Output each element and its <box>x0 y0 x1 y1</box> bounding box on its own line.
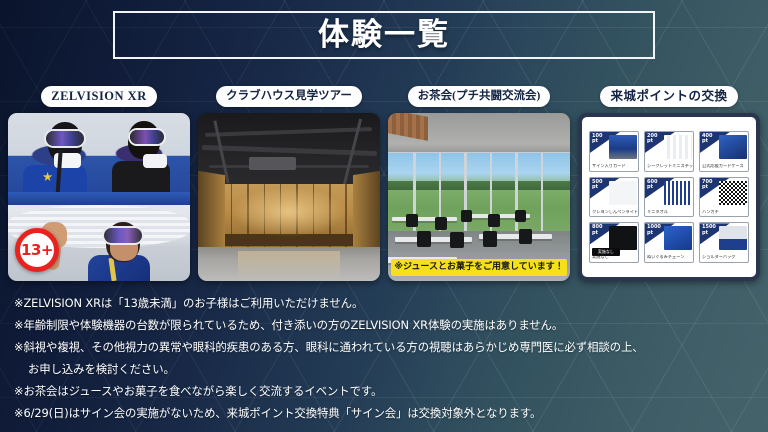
prize-item: 1500 ptショルダーバッグ <box>699 222 749 263</box>
notes-list: ※ZELVISION XRは「13歳未満」のお子様はご利用いただけません。※年齢… <box>14 292 756 424</box>
prize-points-label: 1500 pt <box>700 223 748 236</box>
age-restriction-badge: 13+ <box>15 228 59 272</box>
chair <box>417 231 431 247</box>
table <box>392 217 458 221</box>
vr-headset-experience-photo: 13+ <box>8 113 190 281</box>
side-locker-right <box>353 171 380 256</box>
title-frame: 体験一覧 <box>113 11 655 59</box>
card-label-pill-points-exchange: 来城ポイントの交換 <box>600 86 737 107</box>
blue-table <box>8 192 190 205</box>
experience-card-clubhouse-tour[interactable]: クラブハウス見学ツアー <box>198 86 380 286</box>
experience-card-points-exchange[interactable]: 来城ポイントの交換 100 ptサイン入りカード200 ptシークレットミニステ… <box>578 86 760 286</box>
prize-item: 700 ptハンカチ <box>699 177 749 218</box>
prize-unavailable-label: 実施なし <box>598 249 614 255</box>
age-restriction-label: 13+ <box>21 243 53 258</box>
card-label-pill-zelvision-xr: ZELVISION XR <box>41 86 157 107</box>
prize-name-label: ハンカチ <box>700 210 748 217</box>
vr-goggle-icon <box>46 131 84 146</box>
chair <box>406 214 418 227</box>
cafeteria-lounge-photo: ※ジュースとお菓子をご用意しています！ <box>388 113 570 281</box>
card-label-text: クラブハウス見学ツアー <box>226 91 352 103</box>
prize-name-label: ミニタオル <box>645 210 693 217</box>
warm-lighting-glow <box>231 187 347 237</box>
chair <box>515 210 526 222</box>
chair <box>450 232 464 248</box>
clubhouse-locker-room-photo <box>198 113 380 281</box>
card-label-text: お茶会(プチ共闘交流会) <box>418 91 541 103</box>
ceiling-vent <box>249 157 296 170</box>
page-title: 体験一覧 <box>318 20 450 51</box>
vr-goggle-icon <box>130 130 164 144</box>
chair <box>483 231 497 247</box>
prize-name-label: サイン入りカード <box>590 164 638 171</box>
floor-reflection <box>238 251 340 281</box>
prize-name-label: クレヨンしんペンライト <box>590 210 638 217</box>
face-mask <box>143 154 167 168</box>
note-line: ※6/29(日)はサイン会の実施がないため、来城ポイント交換特典「サイン会」は交… <box>14 402 756 424</box>
experience-card-tea-party[interactable]: お茶会(プチ共闘交流会) <box>388 86 570 286</box>
chair <box>435 217 447 230</box>
prize-name-label: 公式応援カードケース <box>700 164 748 171</box>
points-exchange-prize-sheet: 100 ptサイン入りカード200 ptシークレットミニステッカー400 pt公… <box>578 113 760 281</box>
experience-card-zelvision-xr[interactable]: ZELVISION XR <box>8 86 190 286</box>
prize-item: 1000 ptぬいぐるみチェーン <box>644 222 694 263</box>
prize-points-label: 800 pt <box>590 223 638 236</box>
prize-points-label: 200 pt <box>645 132 693 145</box>
side-locker-left <box>198 171 225 256</box>
prize-item: 500 ptクレヨンしんペンライト <box>589 177 639 218</box>
note-line: お申し込みを検討ください。 <box>14 358 756 380</box>
prize-points-label: 1000 pt <box>645 223 693 236</box>
slide-root: 体験一覧 ZELVISION XR <box>0 0 768 432</box>
tea-party-banner: ※ジュースとお菓子をご用意しています！ <box>391 259 567 276</box>
note-line: ※お茶会はジュースやお菓子を食べながら楽しく交流するイベントです。 <box>14 380 756 402</box>
prize-item: 200 ptシークレットミニステッカー <box>644 131 694 172</box>
note-line: ※斜視や複視、その他視力の異常や眼科的疾患のある方、眼科に通われている方の視聴は… <box>14 336 756 358</box>
prize-item: 800 pt実施なし実施なし <box>589 222 639 263</box>
experience-card-row: ZELVISION XR <box>0 86 768 286</box>
prize-points-label: 700 pt <box>700 178 748 191</box>
prize-points-label: 500 pt <box>590 178 638 191</box>
card-label-text: 来城ポイントの交換 <box>610 90 727 103</box>
card-label-pill-clubhouse-tour: クラブハウス見学ツアー <box>216 86 362 107</box>
chair <box>461 210 472 222</box>
vr-goggle-icon <box>104 228 142 243</box>
chair <box>488 214 500 227</box>
prize-name-label: シークレットミニステッカー <box>645 164 693 171</box>
note-line: ※ZELVISION XRは「13歳未満」のお子様はご利用いただけません。 <box>14 292 756 314</box>
prize-points-label: 100 pt <box>590 132 638 145</box>
prize-name-label: ショルダーバッグ <box>700 255 748 262</box>
vr-photo-upper <box>8 113 190 205</box>
card-label-pill-tea-party: お茶会(プチ共闘交流会) <box>408 86 551 107</box>
prize-points-label: 400 pt <box>700 132 748 145</box>
prize-name-label: 実施なし <box>590 255 638 262</box>
card-label-text: ZELVISION XR <box>51 90 147 103</box>
prize-item: 600 ptミニタオル <box>644 177 694 218</box>
tea-party-banner-label: ※ジュースとお菓子をご用意しています！ <box>394 263 563 272</box>
prize-item: 400 pt公式応援カードケース <box>699 131 749 172</box>
prize-grid: 100 ptサイン入りカード200 ptシークレットミニステッカー400 pt公… <box>582 117 756 277</box>
prize-item: 100 ptサイン入りカード <box>589 131 639 172</box>
prize-name-label: ぬいぐるみチェーン <box>645 255 693 262</box>
prize-points-label: 600 pt <box>645 178 693 191</box>
chair <box>519 229 532 244</box>
note-line: ※年齢制限や体験機器の台数が限られているため、付き添いの方のZELVISION … <box>14 314 756 336</box>
